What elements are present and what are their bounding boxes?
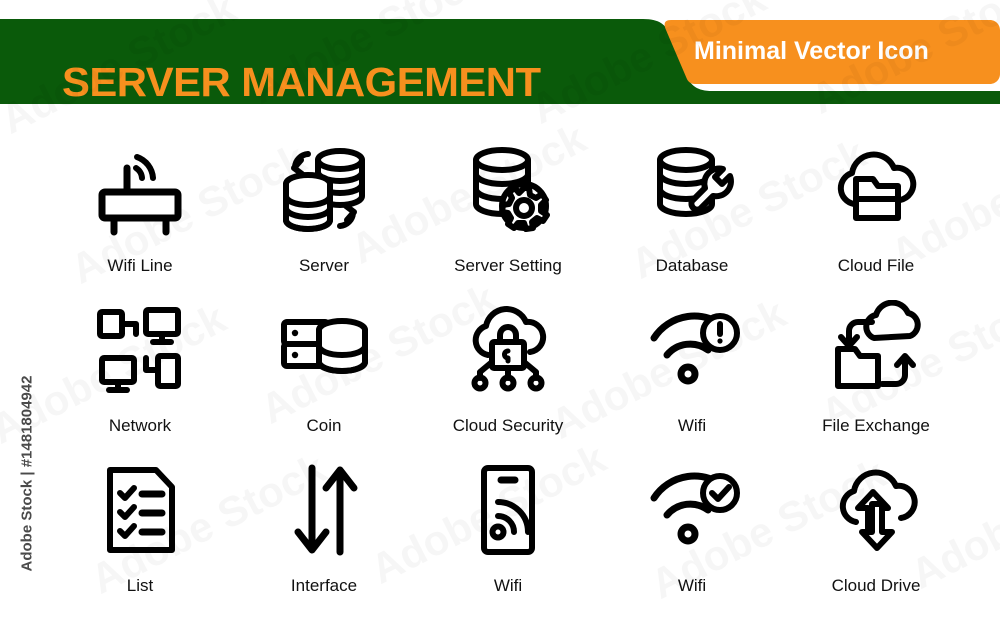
icon-label: Cloud Drive: [832, 576, 921, 596]
wifi-alert-icon: [640, 298, 744, 402]
wifi-check-icon: [640, 458, 744, 562]
icon-cell-coin[interactable]: Coin: [232, 290, 416, 450]
database-gear-icon: [456, 138, 560, 242]
icon-label: Coin: [307, 416, 342, 436]
icon-cell-server[interactable]: Server: [232, 130, 416, 290]
icon-cell-wifi-line[interactable]: Wifi Line: [48, 130, 232, 290]
icon-label: Wifi: [678, 416, 706, 436]
cloud-folder-exchange-icon: [824, 298, 928, 402]
icon-label: List: [127, 576, 153, 596]
icon-cell-cloud-drive[interactable]: Cloud Drive: [784, 450, 968, 610]
header-badge-label: Minimal Vector Icon: [694, 37, 929, 66]
icon-cell-wifi-alert[interactable]: Wifi: [600, 290, 784, 450]
network-nodes-icon: [88, 298, 192, 402]
cloud-folder-icon: [824, 138, 928, 242]
icon-label: Network: [109, 416, 171, 436]
icon-label: Server: [299, 256, 349, 276]
icon-label: File Exchange: [822, 416, 930, 436]
adobe-stock-id-watermark: Adobe Stock | #1481804942: [19, 329, 36, 619]
header-banner: SERVER MANAGEMENT Minimal Vector Icon: [0, 19, 1000, 104]
icon-cell-cloud-security[interactable]: Cloud Security: [416, 290, 600, 450]
icon-label: Cloud Security: [453, 416, 564, 436]
icon-label: Wifi Line: [107, 256, 172, 276]
server-stack-sync-icon: [272, 138, 376, 242]
wifi-router-icon: [88, 138, 192, 242]
icon-cell-wifi-check[interactable]: Wifi: [600, 450, 784, 610]
icon-grid: Wifi Line Server: [48, 130, 968, 610]
icon-cell-database[interactable]: Database: [600, 130, 784, 290]
phone-wifi-icon: [456, 458, 560, 562]
database-wrench-icon: [640, 138, 744, 242]
checklist-document-icon: [88, 458, 192, 562]
icon-cell-list[interactable]: List: [48, 450, 232, 610]
icon-label: Server Setting: [454, 256, 562, 276]
icon-cell-phone-wifi[interactable]: Wifi: [416, 450, 600, 610]
cloud-updown-arrows-icon: [824, 458, 928, 562]
icon-cell-file-exchange[interactable]: File Exchange: [784, 290, 968, 450]
page-title: SERVER MANAGEMENT: [62, 59, 541, 106]
icon-cell-network[interactable]: Network: [48, 290, 232, 450]
icon-cell-interface[interactable]: Interface: [232, 450, 416, 610]
icon-label: Database: [656, 256, 729, 276]
icon-cell-server-setting[interactable]: Server Setting: [416, 130, 600, 290]
icon-cell-cloud-file[interactable]: Cloud File: [784, 130, 968, 290]
icon-label: Interface: [291, 576, 357, 596]
icon-label: Wifi: [678, 576, 706, 596]
arrows-up-down-icon: [272, 458, 376, 562]
icon-label: Wifi: [494, 576, 522, 596]
server-database-coin-icon: [272, 298, 376, 402]
icon-label: Cloud File: [838, 256, 915, 276]
cloud-lock-icon: [456, 298, 560, 402]
